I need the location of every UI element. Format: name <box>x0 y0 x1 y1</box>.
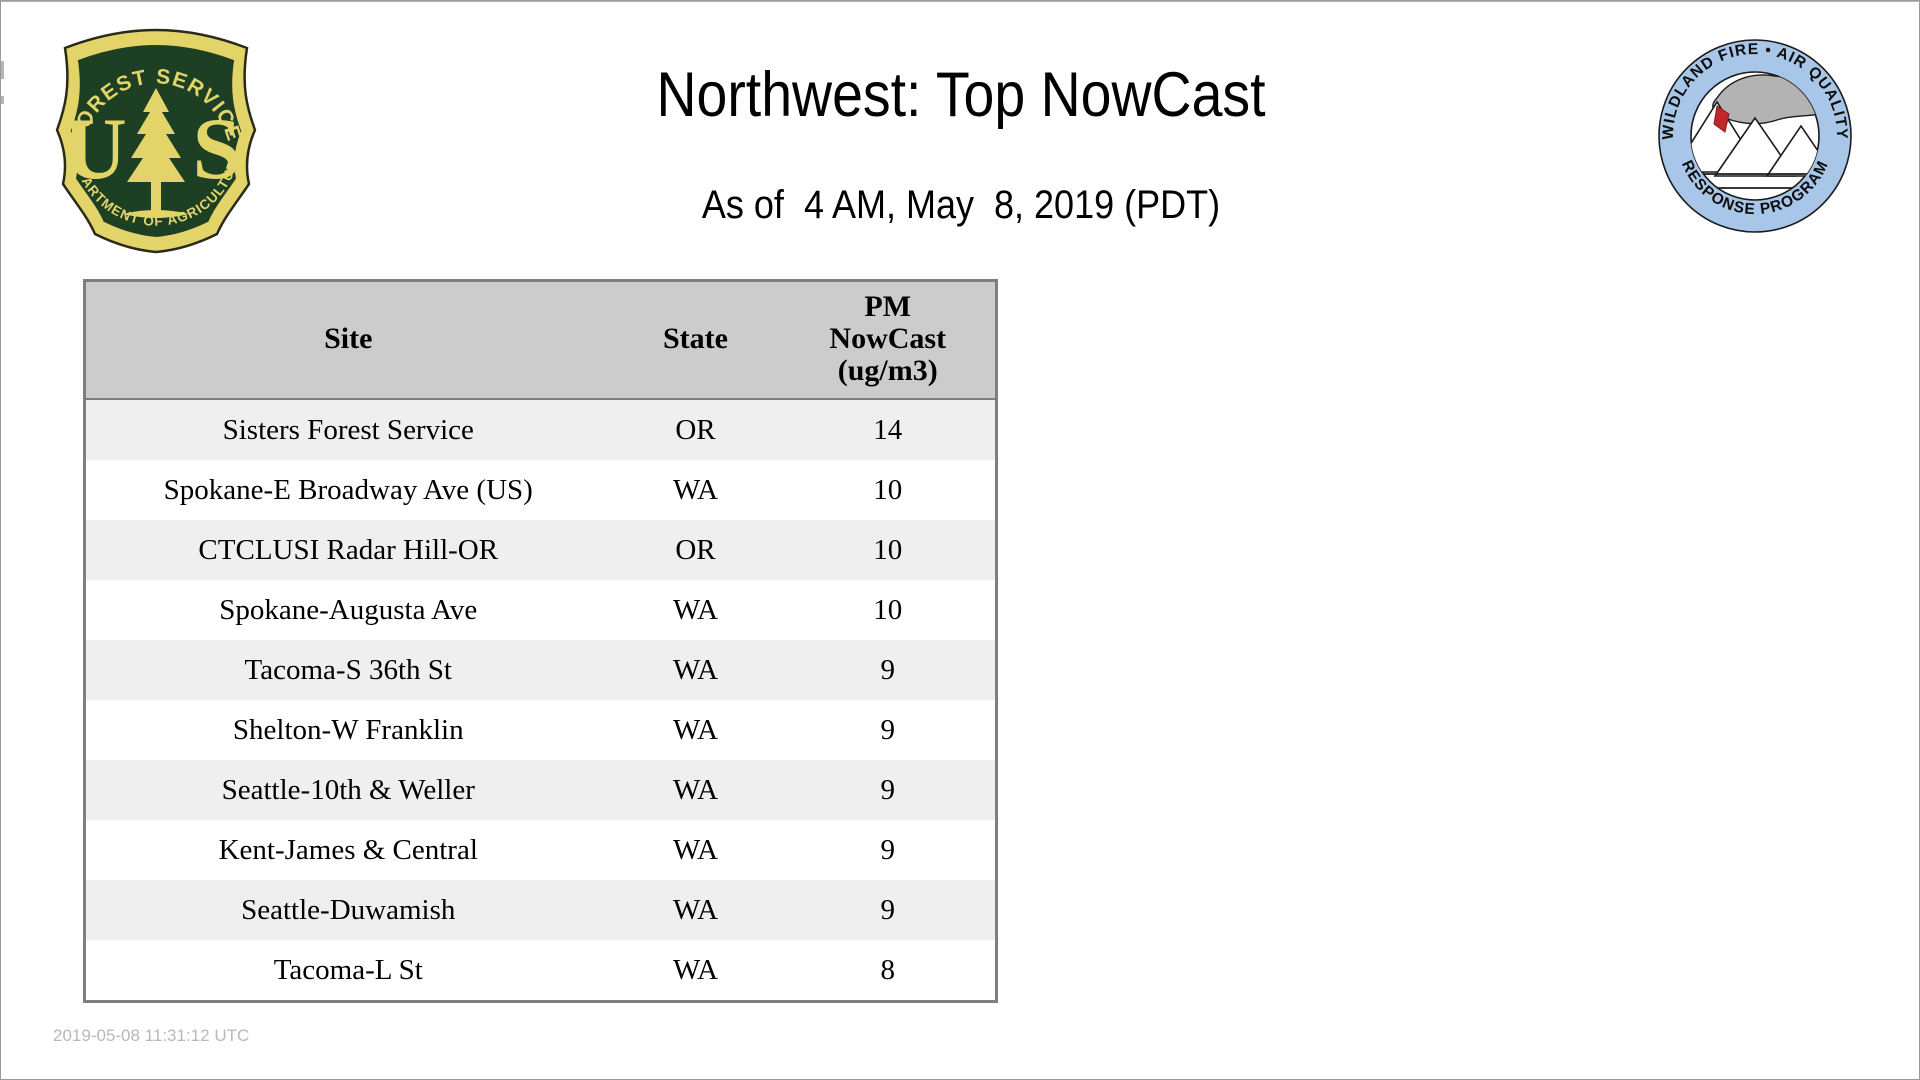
cell-value: 8 <box>781 940 997 1002</box>
cell-state: WA <box>611 580 781 640</box>
cell-value: 9 <box>781 700 997 760</box>
table-row: Shelton-W FranklinWA9 <box>85 700 997 760</box>
cell-site: Kent-James & Central <box>85 820 611 880</box>
cell-state: WA <box>611 760 781 820</box>
table-row: Seattle-DuwamishWA9 <box>85 880 997 940</box>
cell-site: Tacoma-S 36th St <box>85 640 611 700</box>
page-title: Northwest: Top NowCast <box>116 59 1806 131</box>
cell-site: Sisters Forest Service <box>85 399 611 460</box>
cell-value: 9 <box>781 760 997 820</box>
footer-timestamp: 2019-05-08 11:31:12 UTC <box>53 1026 249 1046</box>
edge-artifact-top <box>1 1 1920 2</box>
column-header-pm-nowcast-line-2: NowCast <box>781 323 996 355</box>
cell-state: WA <box>611 820 781 880</box>
table-row: CTCLUSI Radar Hill-OROR10 <box>85 520 997 580</box>
table-row: Tacoma-S 36th StWA9 <box>85 640 997 700</box>
table-row: Spokane-E Broadway Ave (US)WA10 <box>85 460 997 520</box>
cell-site: CTCLUSI Radar Hill-OR <box>85 520 611 580</box>
cell-value: 9 <box>781 880 997 940</box>
cell-state: WA <box>611 640 781 700</box>
cell-state: WA <box>611 700 781 760</box>
cell-value: 9 <box>781 640 997 700</box>
column-header-pm-nowcast-line-1: PM <box>781 291 996 323</box>
column-header-pm-nowcast-line-3: (ug/m3) <box>781 355 996 387</box>
cell-site: Seattle-Duwamish <box>85 880 611 940</box>
cell-state: WA <box>611 460 781 520</box>
column-header-state: State <box>611 281 781 400</box>
table-row: Seattle-10th & WellerWA9 <box>85 760 997 820</box>
table-row: Tacoma-L StWA8 <box>85 940 997 1002</box>
edge-artifact-left-upper <box>1 61 4 79</box>
top-nowcast-table: Site State PM NowCast (ug/m3) Sisters Fo… <box>83 279 998 1003</box>
table-body: Sisters Forest ServiceOR14Spokane-E Broa… <box>85 399 997 1002</box>
table-row: Spokane-Augusta AveWA10 <box>85 580 997 640</box>
cell-site: Spokane-Augusta Ave <box>85 580 611 640</box>
cell-site: Tacoma-L St <box>85 940 611 1002</box>
edge-artifact-left-lower <box>1 96 4 104</box>
cell-site: Shelton-W Franklin <box>85 700 611 760</box>
cell-value: 10 <box>781 520 997 580</box>
cell-value: 9 <box>781 820 997 880</box>
cell-site: Spokane-E Broadway Ave (US) <box>85 460 611 520</box>
column-header-site: Site <box>85 281 611 400</box>
table-header: Site State PM NowCast (ug/m3) <box>85 281 997 400</box>
nowcast-report-page: FOREST SERVICE DEPARTMENT OF AGRICULTURE… <box>0 0 1920 1080</box>
cell-state: WA <box>611 880 781 940</box>
nowcast-table-container: Site State PM NowCast (ug/m3) Sisters Fo… <box>83 279 995 1003</box>
cell-site: Seattle-10th & Weller <box>85 760 611 820</box>
cell-state: OR <box>611 520 781 580</box>
table-row: Kent-James & CentralWA9 <box>85 820 997 880</box>
cell-state: OR <box>611 399 781 460</box>
cell-value: 14 <box>781 399 997 460</box>
cell-state: WA <box>611 940 781 1002</box>
cell-value: 10 <box>781 460 997 520</box>
table-row: Sisters Forest ServiceOR14 <box>85 399 997 460</box>
page-subtitle: As of 4 AM, May 8, 2019 (PDT) <box>97 183 1825 228</box>
cell-value: 10 <box>781 580 997 640</box>
column-header-pm-nowcast: PM NowCast (ug/m3) <box>781 281 997 400</box>
table-header-row: Site State PM NowCast (ug/m3) <box>85 281 997 400</box>
